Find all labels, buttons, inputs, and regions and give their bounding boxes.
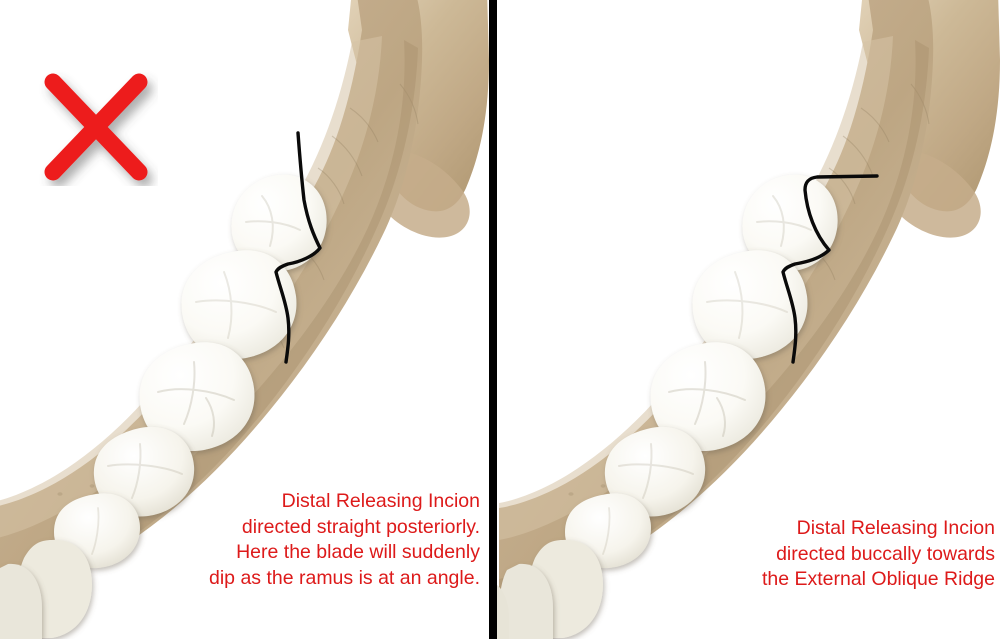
caption-line: directed buccally towards (762, 542, 995, 568)
caption-line: the External Oblique Ridge (762, 567, 995, 593)
caption-line: Distal Releasing Incion (762, 516, 995, 542)
panel-correct-technique: Distal Releasing Incion directed buccall… (497, 0, 1000, 639)
caption-line: directed straight posteriorly. (209, 515, 480, 541)
figure-canvas: Distal Releasing Incion directed straigh… (0, 0, 1000, 639)
red-x-icon (38, 68, 158, 186)
caption-line: Here the blade will suddenly (209, 540, 480, 566)
panel-incorrect-technique: Distal Releasing Incion directed straigh… (0, 0, 489, 639)
panel-divider (489, 0, 497, 639)
caption-incorrect: Distal Releasing Incion directed straigh… (209, 489, 480, 591)
caption-line: Distal Releasing Incion (209, 489, 480, 515)
caption-correct: Distal Releasing Incion directed buccall… (762, 516, 995, 593)
caption-line: dip as the ramus is at an angle. (209, 566, 480, 592)
